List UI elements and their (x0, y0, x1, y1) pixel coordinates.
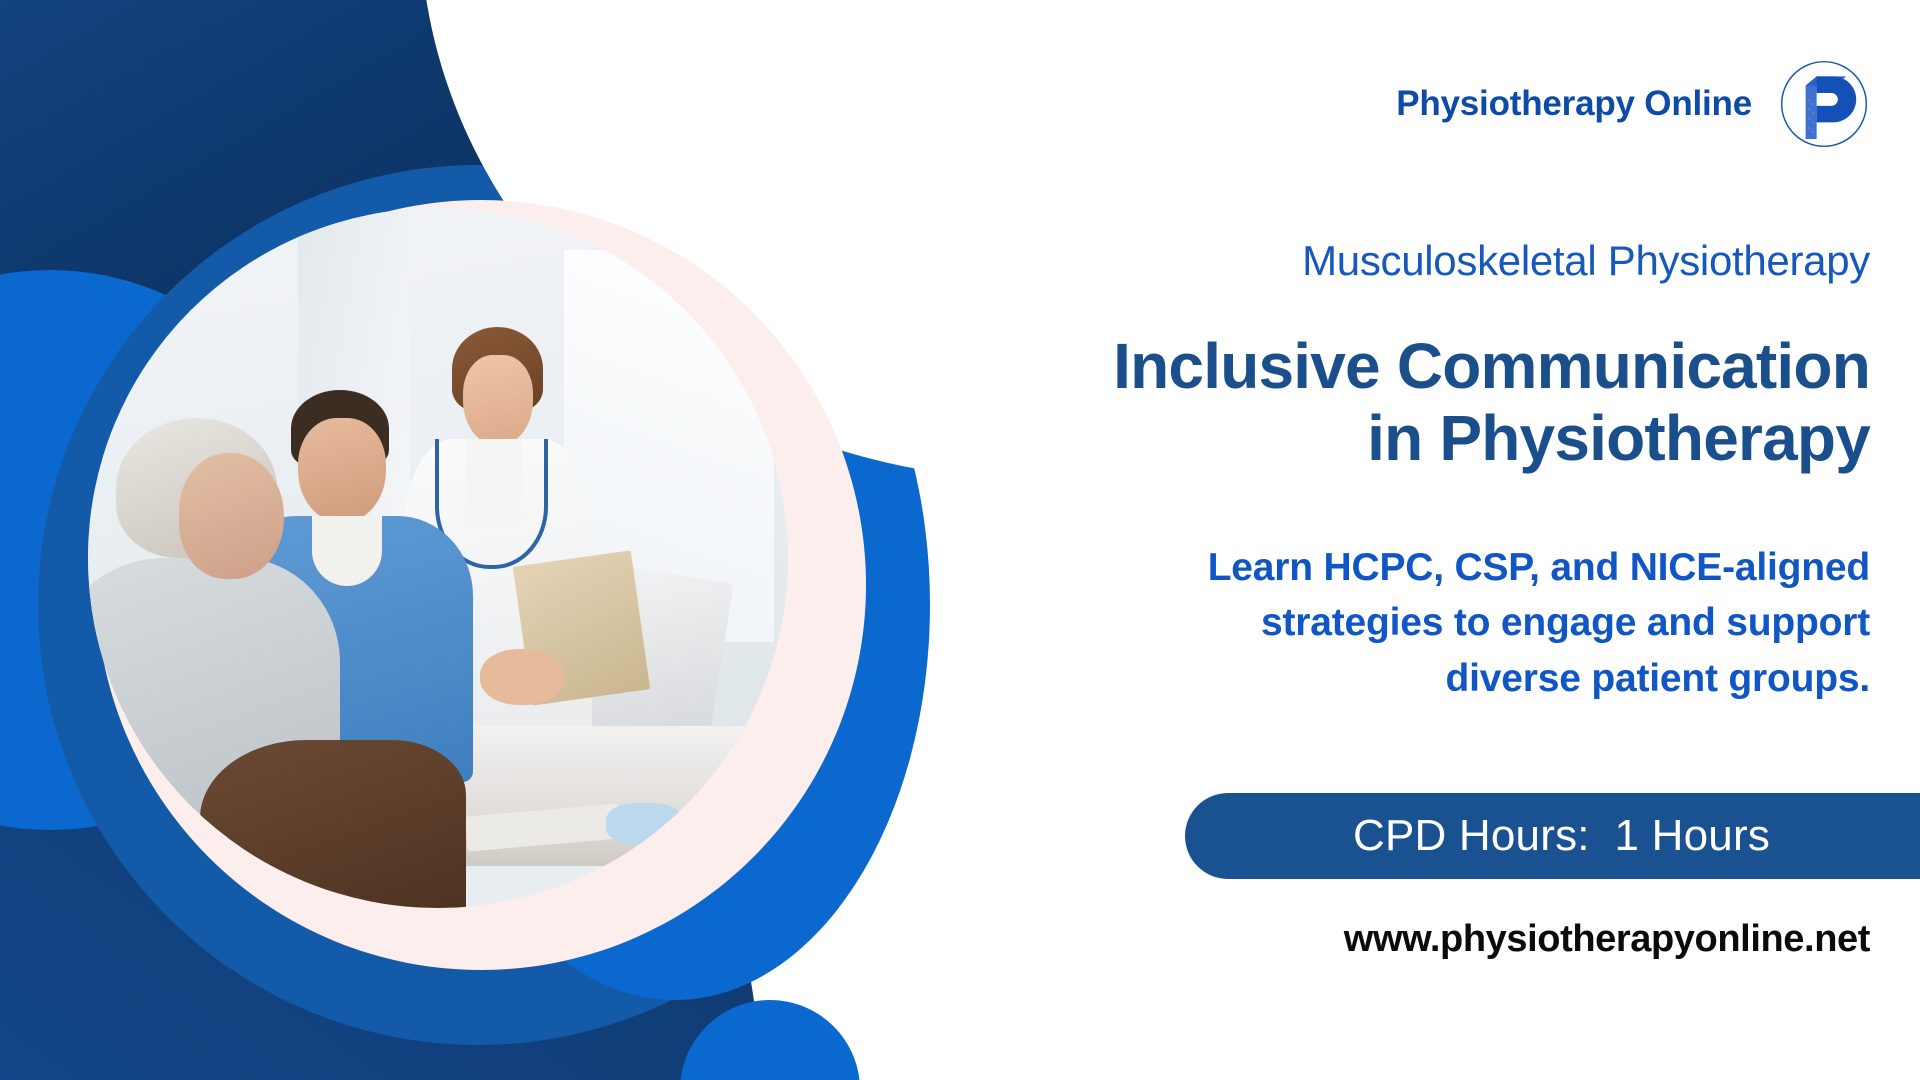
brand-header: Physiotherapy Online (1396, 58, 1870, 150)
hero-photo (88, 208, 788, 908)
physiotherapy-p-logo-icon (1778, 58, 1870, 150)
doctor-face (463, 355, 533, 446)
course-description-line-1: Learn HCPC, CSP, and NICE-aligned (860, 540, 1870, 595)
course-category: Musculoskeletal Physiotherapy (1302, 237, 1870, 285)
course-description-line-3: diverse patient groups. (860, 651, 1870, 706)
cpd-hours-text: CPD Hours: 1 Hours (1353, 811, 1770, 861)
course-description-line-2: strategies to engage and support (860, 595, 1870, 650)
clinician-face (298, 418, 386, 523)
course-promo-banner: Physiotherapy Online Musculoskeletal Phy… (0, 0, 1920, 1080)
patient-lap-blanket (200, 740, 466, 908)
website-url[interactable]: www.physiotherapyonline.net (1344, 918, 1870, 961)
course-title: Inclusive Communication in Physiotherapy (860, 330, 1870, 475)
patient-face (179, 453, 284, 579)
cpd-hours-badge: CPD Hours: 1 Hours (1185, 793, 1920, 879)
photo-scene (88, 208, 788, 908)
clinician-collar (312, 516, 382, 586)
doctor-hands (480, 649, 564, 705)
course-title-line-2: in Physiotherapy (860, 402, 1870, 474)
face-mask (606, 803, 683, 845)
course-title-line-1: Inclusive Communication (860, 330, 1870, 402)
brand-name: Physiotherapy Online (1396, 84, 1752, 124)
course-description: Learn HCPC, CSP, and NICE-aligned strate… (860, 540, 1870, 706)
